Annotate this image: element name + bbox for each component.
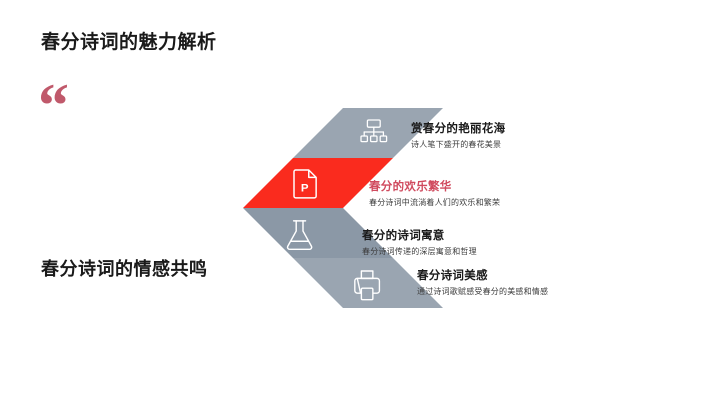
page-title: 春分诗词的魅力解析 — [41, 27, 217, 54]
item-subtitle: 诗人笔下盛开的春花美景 — [411, 139, 505, 150]
item-subtitle: 春分诗词传递的深层寓意和哲理 — [362, 246, 477, 257]
list-item[interactable]: 春分的诗词寓意 春分诗词传递的深层寓意和哲理 — [362, 227, 477, 257]
list-item[interactable]: 春分的欢乐繁华 春分诗词中流淌着人们的欢乐和繁荣 — [369, 178, 500, 208]
item-subtitle: 春分诗词中流淌着人们的欢乐和繁荣 — [369, 197, 500, 208]
item-subtitle: 通过诗词歌赋感受春分的美感和情感 — [417, 286, 548, 297]
slide-canvas: 春分诗词的魅力解析 “ 春分诗词的情感共鸣 — [0, 0, 720, 404]
list-item[interactable]: 春分诗词美感 通过诗词歌赋感受春分的美感和情感 — [417, 267, 548, 297]
quote-mark-icon: “ — [38, 75, 69, 137]
item-heading: 赏春分的艳丽花海 — [411, 120, 505, 136]
svg-text:P: P — [301, 182, 309, 194]
list-item[interactable]: 赏春分的艳丽花海 诗人笔下盛开的春花美景 — [411, 120, 505, 150]
item-heading: 春分诗词美感 — [417, 267, 548, 283]
item-heading: 春分的诗词寓意 — [362, 227, 477, 243]
item-heading: 春分的欢乐繁华 — [369, 178, 500, 194]
section-subtitle: 春分诗词的情感共鸣 — [41, 255, 208, 281]
